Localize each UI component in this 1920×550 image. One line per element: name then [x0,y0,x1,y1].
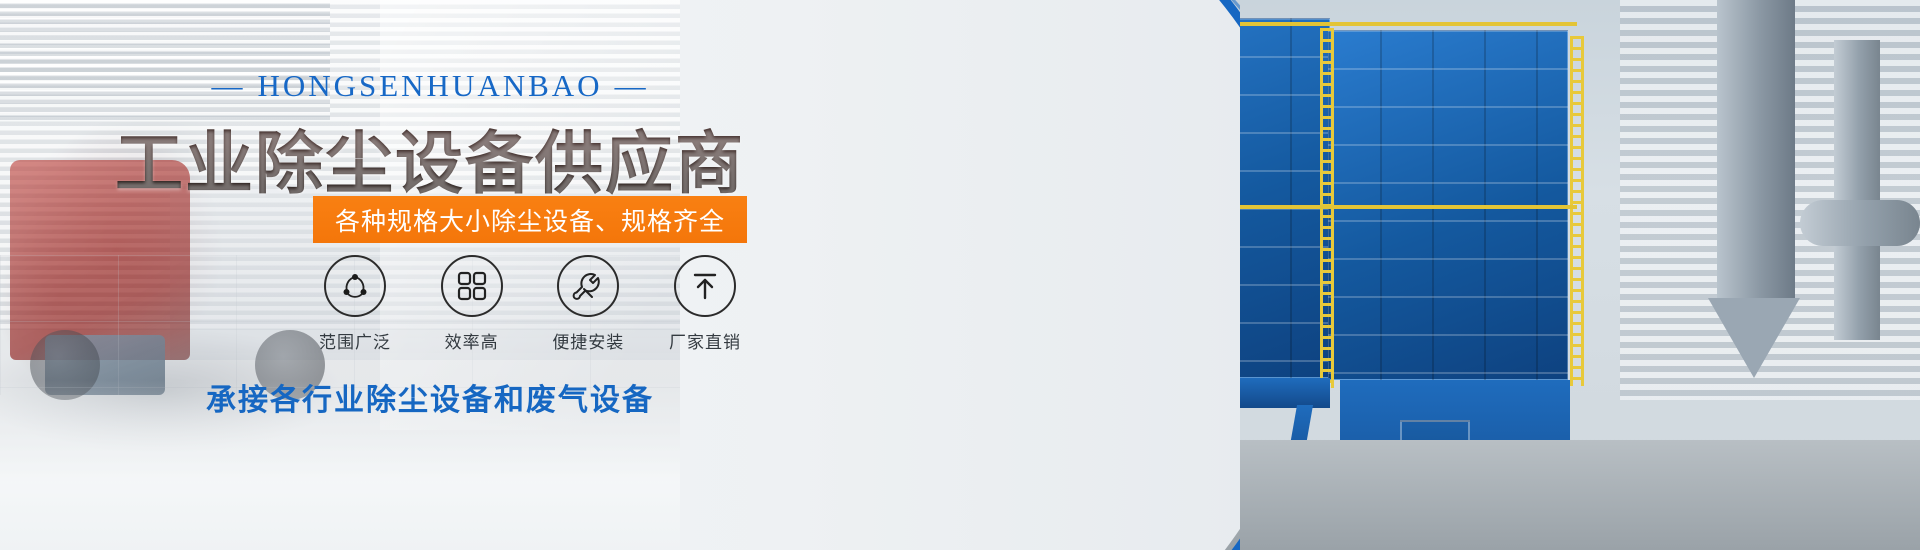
banner-tagline: 承接各行业除尘设备和废气设备 [0,375,860,419]
feature-label: 范围广泛 [305,328,405,353]
feature-label: 便捷安装 [538,328,638,353]
subtitle-text: 各种规格大小除尘设备、规格齐全 [335,202,725,238]
page-title: 工业除尘设备供应商 [0,108,860,207]
feature-label: 厂家直销 [655,328,755,353]
feature-label: 效率高 [422,328,522,353]
feature-item-direct-sales[interactable]: 厂家直销 [655,255,755,353]
subtitle-orange-bar: 各种规格大小除尘设备、规格齐全 [313,196,747,243]
kicker-text: HONGSENHUANBAO [257,68,602,103]
kicker-dash-left: — [199,68,257,104]
feature-item-coverage[interactable]: 范围广泛 [305,255,405,353]
kicker-dash-right: — [603,68,661,104]
feature-list: 范围广泛 效率高 [305,255,755,353]
share-nodes-icon [324,255,386,317]
grid-four-squares-icon [441,255,503,317]
hero-banner: —HONGSENHUANBAO— 工业除尘设备供应商 各种规格大小除尘设备、规格… [0,0,1920,550]
feature-item-efficiency[interactable]: 效率高 [422,255,522,353]
brand-kicker: —HONGSENHUANBAO— [0,68,860,104]
banner-copy: —HONGSENHUANBAO— 工业除尘设备供应商 各种规格大小除尘设备、规格… [0,0,860,550]
arrow-up-bar-icon [674,255,736,317]
feature-item-installation[interactable]: 便捷安装 [538,255,638,353]
wrench-icon [557,255,619,317]
